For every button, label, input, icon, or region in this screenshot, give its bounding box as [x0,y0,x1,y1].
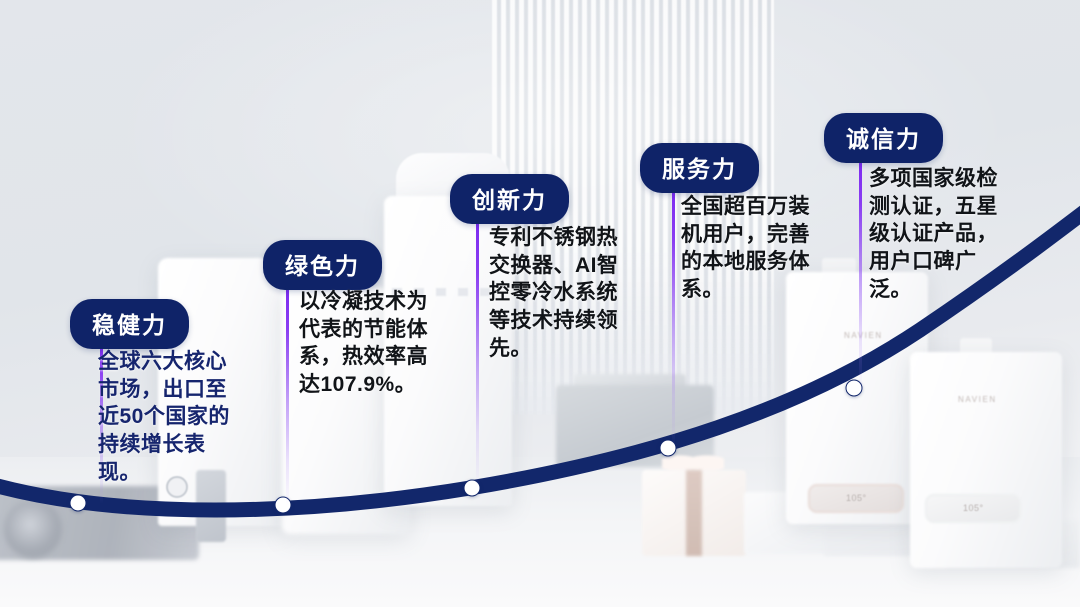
callout-innovation-body: 专利不锈钢热 交换器、AI智 控零冷水系统 等技术持续领 先。 [489,224,665,363]
callout-integrity-body: 多项国家级检 测认证，五星 级认证产品， 用户口碑广 泛。 [869,165,1045,304]
callout-green-connector [286,278,289,506]
callout-green-body: 以冷凝技术为 代表的节能体 系，热效率高 达107.9%。 [299,288,469,399]
curve-marker-steady[interactable] [70,495,87,512]
callout-innovation-pill[interactable]: 创新力 [450,174,569,224]
callout-steady-pill[interactable]: 稳健力 [70,299,189,349]
callout-steady-body: 全球六大核心 市场，出口至 近50个国家的 持续增长表 现。 [98,348,268,487]
infographic-stage: NAVIEN 105° NAVIEN 105° 稳健力 全球六大核心 市场，出口… [0,0,1080,607]
callout-innovation-connector [476,212,479,488]
callout-integrity-connector [859,152,862,388]
callout-service-connector [672,182,675,448]
callout-integrity-pill[interactable]: 诚信力 [824,113,943,163]
callout-green-pill[interactable]: 绿色力 [263,240,382,290]
callout-service-pill[interactable]: 服务力 [640,143,759,193]
callout-service-body: 全国超百万装 机用户，完善 的本地服务体 系。 [681,193,857,304]
